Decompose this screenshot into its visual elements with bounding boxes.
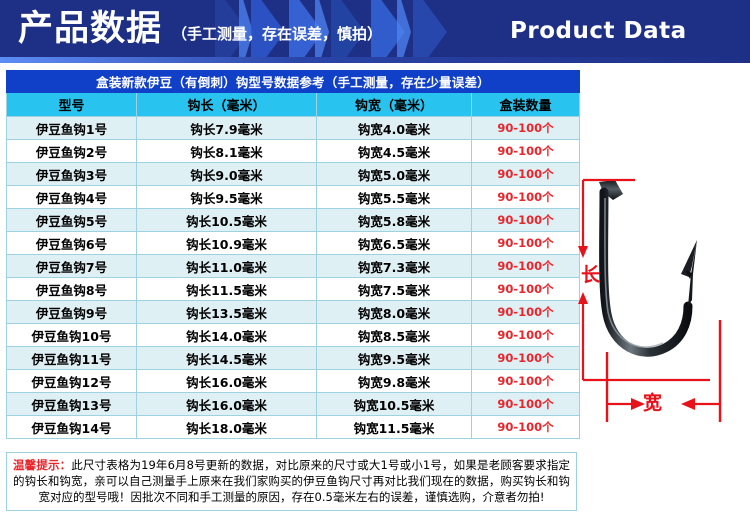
column-header-quantity: 盒装数量 <box>472 93 580 117</box>
length-dimension-label: 长 <box>581 264 600 286</box>
table-row: 伊豆鱼钩11号钩长14.5毫米钩宽9.5毫米90-100个 <box>7 347 580 370</box>
cell-quantity: 90-100个 <box>472 301 580 324</box>
spec-table-body: 伊豆鱼钩1号钩长7.9毫米钩宽4.0毫米90-100个伊豆鱼钩2号钩长8.1毫米… <box>7 117 580 439</box>
cell-width: 钩宽11.5毫米 <box>317 416 472 439</box>
dimension-annotations <box>575 130 750 430</box>
cell-quantity: 90-100个 <box>472 324 580 347</box>
chevron-icon <box>413 0 447 63</box>
cell-model: 伊豆鱼钩1号 <box>7 117 137 140</box>
column-header-model: 型号 <box>7 93 137 117</box>
table-row: 伊豆鱼钩3号钩长9.0毫米钩宽5.0毫米90-100个 <box>7 163 580 186</box>
cell-model: 伊豆鱼钩13号 <box>7 393 137 416</box>
cell-quantity: 90-100个 <box>472 255 580 278</box>
warning-note-lead: 温馨提示： <box>13 458 71 472</box>
cell-length: 钩长9.0毫米 <box>137 163 317 186</box>
cell-length: 钩长16.0毫米 <box>137 393 317 416</box>
cell-model: 伊豆鱼钩2号 <box>7 140 137 163</box>
cell-width: 钩宽8.0毫米 <box>317 301 472 324</box>
cell-model: 伊豆鱼钩9号 <box>7 301 137 324</box>
cell-quantity: 90-100个 <box>472 186 580 209</box>
width-dimension-label: 宽 <box>643 392 662 414</box>
page-title-en: Product Data <box>510 18 687 44</box>
warning-note-text: 温馨提示：此尺寸表格为19年6月8号更新的数据，对比原来的尺寸或大1号或小1号，… <box>13 457 570 505</box>
cell-length: 钩长11.0毫米 <box>137 255 317 278</box>
cell-width: 钩宽6.5毫米 <box>317 232 472 255</box>
cell-quantity: 90-100个 <box>472 393 580 416</box>
product-data-page: 产品数据 （手工测量，存在误差，慎拍） Product Data 盒装新款伊豆（… <box>0 0 750 530</box>
table-row: 伊豆鱼钩7号钩长11.0毫米钩宽7.3毫米90-100个 <box>7 255 580 278</box>
table-header-row: 型号 钩长（毫米） 钩宽（毫米） 盒装数量 <box>7 93 580 117</box>
page-banner: 产品数据 （手工测量，存在误差，慎拍） Product Data <box>0 0 750 63</box>
cell-width: 钩宽4.5毫米 <box>317 140 472 163</box>
cell-width: 钩宽9.5毫米 <box>317 347 472 370</box>
table-row: 伊豆鱼钩13号钩长16.0毫米钩宽10.5毫米90-100个 <box>7 393 580 416</box>
cell-width: 钩宽5.8毫米 <box>317 209 472 232</box>
table-row: 伊豆鱼钩14号钩长18.0毫米钩宽11.5毫米90-100个 <box>7 416 580 439</box>
cell-width: 钩宽10.5毫米 <box>317 393 472 416</box>
cell-length: 钩长9.5毫米 <box>137 186 317 209</box>
cell-length: 钩长14.0毫米 <box>137 324 317 347</box>
length-arrow-down-icon <box>578 246 588 258</box>
table-caption-row: 盒装新款伊豆（有倒刺）钩型号数据参考（手工测量，存在少量误差） <box>7 71 580 93</box>
cell-quantity: 90-100个 <box>472 278 580 301</box>
cell-length: 钩长8.1毫米 <box>137 140 317 163</box>
warning-note-body: 此尺寸表格为19年6月8号更新的数据，对比原来的尺寸或大1号或小1号，如果是老顾… <box>13 458 570 504</box>
length-arrow-up-icon <box>578 292 588 304</box>
cell-length: 钩长14.5毫米 <box>137 347 317 370</box>
cell-width: 钩宽7.3毫米 <box>317 255 472 278</box>
cell-quantity: 90-100个 <box>472 117 580 140</box>
cell-model: 伊豆鱼钩5号 <box>7 209 137 232</box>
cell-model: 伊豆鱼钩8号 <box>7 278 137 301</box>
table-row: 伊豆鱼钩10号钩长14.0毫米钩宽8.5毫米90-100个 <box>7 324 580 347</box>
table-row: 伊豆鱼钩9号钩长13.5毫米钩宽8.0毫米90-100个 <box>7 301 580 324</box>
width-arrow-left-icon <box>681 398 695 410</box>
cell-length: 钩长11.5毫米 <box>137 278 317 301</box>
cell-quantity: 90-100个 <box>472 370 580 393</box>
cell-length: 钩长16.0毫米 <box>137 370 317 393</box>
cell-quantity: 90-100个 <box>472 416 580 439</box>
table-row: 伊豆鱼钩8号钩长11.5毫米钩宽7.5毫米90-100个 <box>7 278 580 301</box>
cell-quantity: 90-100个 <box>472 232 580 255</box>
cell-quantity: 90-100个 <box>472 140 580 163</box>
page-title-cn-subtitle: （手工测量，存在误差，慎拍） <box>172 24 382 44</box>
cell-model: 伊豆鱼钩11号 <box>7 347 137 370</box>
cell-model: 伊豆鱼钩14号 <box>7 416 137 439</box>
warning-note-box: 温馨提示：此尺寸表格为19年6月8号更新的数据，对比原来的尺寸或大1号或小1号，… <box>6 452 577 511</box>
table-row: 伊豆鱼钩12号钩长16.0毫米钩宽9.8毫米90-100个 <box>7 370 580 393</box>
table-row: 伊豆鱼钩2号钩长8.1毫米钩宽4.5毫米90-100个 <box>7 140 580 163</box>
cell-model: 伊豆鱼钩4号 <box>7 186 137 209</box>
table-row: 伊豆鱼钩5号钩长10.5毫米钩宽5.8毫米90-100个 <box>7 209 580 232</box>
cell-length: 钩长13.5毫米 <box>137 301 317 324</box>
cell-quantity: 90-100个 <box>472 209 580 232</box>
column-header-width: 钩宽（毫米） <box>317 93 472 117</box>
table-row: 伊豆鱼钩4号钩长9.5毫米钩宽5.5毫米90-100个 <box>7 186 580 209</box>
cell-width: 钩宽5.0毫米 <box>317 163 472 186</box>
spec-table-container: 盒装新款伊豆（有倒刺）钩型号数据参考（手工测量，存在少量误差） 型号 钩长（毫米… <box>6 70 579 439</box>
cell-length: 钩长10.5毫米 <box>137 209 317 232</box>
cell-width: 钩宽7.5毫米 <box>317 278 472 301</box>
cell-quantity: 90-100个 <box>472 163 580 186</box>
cell-model: 伊豆鱼钩12号 <box>7 370 137 393</box>
chevron-icon <box>397 0 411 63</box>
hook-diagram: 长 宽 <box>575 130 750 430</box>
cell-width: 钩宽4.0毫米 <box>317 117 472 140</box>
cell-width: 钩宽8.5毫米 <box>317 324 472 347</box>
cell-model: 伊豆鱼钩10号 <box>7 324 137 347</box>
cell-length: 钩长18.0毫米 <box>137 416 317 439</box>
cell-length: 钩长7.9毫米 <box>137 117 317 140</box>
cell-length: 钩长10.9毫米 <box>137 232 317 255</box>
page-title-cn: 产品数据 <box>18 8 162 50</box>
column-header-length: 钩长（毫米） <box>137 93 317 117</box>
spec-table: 盒装新款伊豆（有倒刺）钩型号数据参考（手工测量，存在少量误差） 型号 钩长（毫米… <box>6 70 580 439</box>
cell-width: 钩宽5.5毫米 <box>317 186 472 209</box>
table-row: 伊豆鱼钩1号钩长7.9毫米钩宽4.0毫米90-100个 <box>7 117 580 140</box>
cell-quantity: 90-100个 <box>472 347 580 370</box>
table-caption: 盒装新款伊豆（有倒刺）钩型号数据参考（手工测量，存在少量误差） <box>7 71 580 93</box>
table-row: 伊豆鱼钩6号钩长10.9毫米钩宽6.5毫米90-100个 <box>7 232 580 255</box>
cell-model: 伊豆鱼钩6号 <box>7 232 137 255</box>
banner-underline <box>0 57 750 63</box>
cell-model: 伊豆鱼钩3号 <box>7 163 137 186</box>
cell-width: 钩宽9.8毫米 <box>317 370 472 393</box>
cell-model: 伊豆鱼钩7号 <box>7 255 137 278</box>
